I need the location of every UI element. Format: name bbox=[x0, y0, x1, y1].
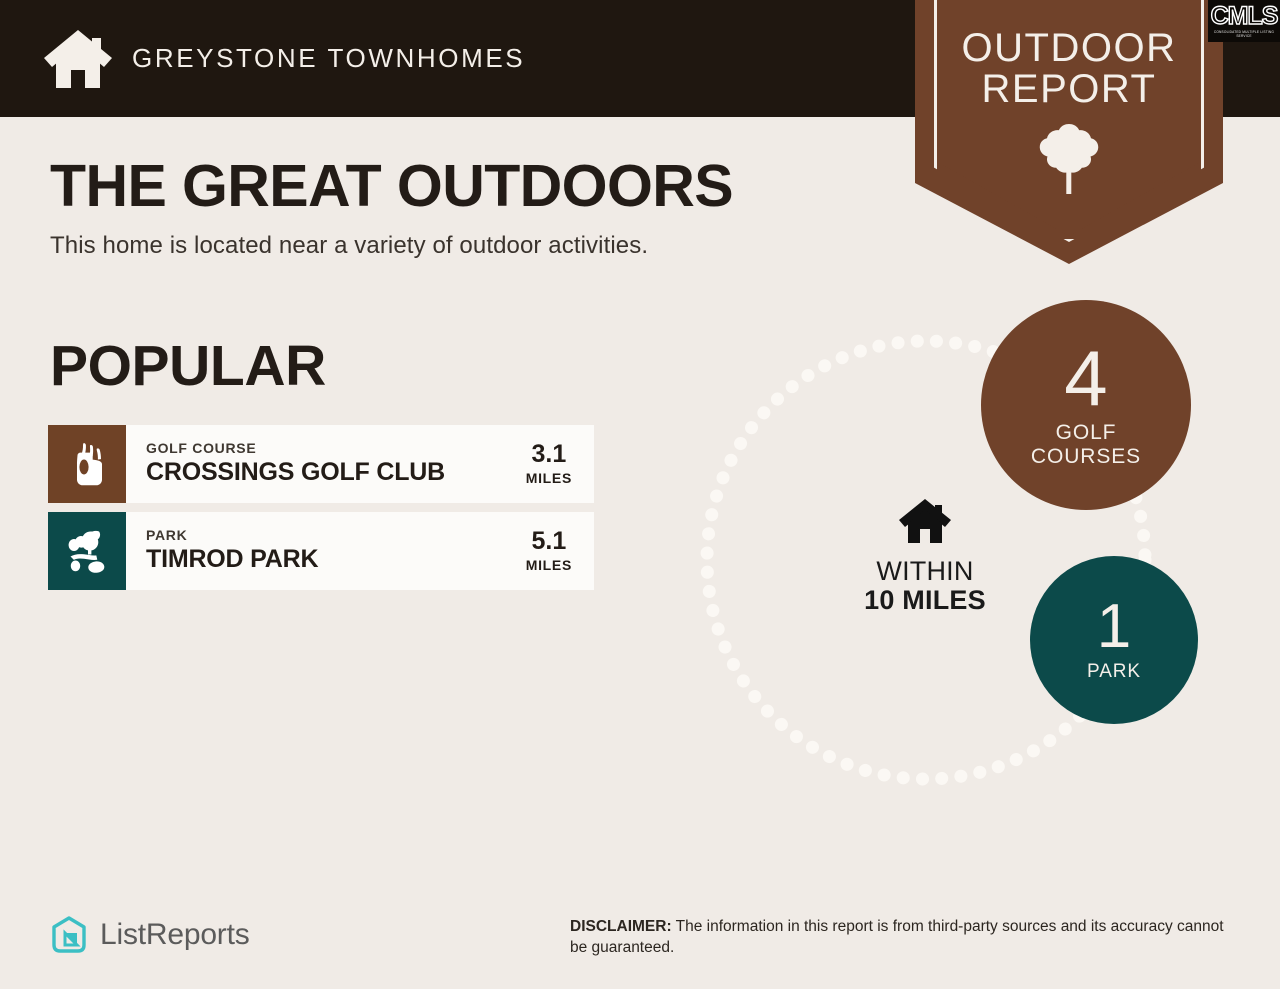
poi-icon-tile bbox=[48, 425, 126, 503]
stat-parks[interactable]: 1 PARK bbox=[1030, 556, 1198, 724]
park-tree-icon bbox=[64, 529, 110, 573]
list-item[interactable]: PARK TIMROD PARK 5.1 MILES bbox=[48, 512, 594, 590]
popular-heading: POPULAR bbox=[50, 338, 326, 395]
poi-distance-unit: MILES bbox=[526, 557, 572, 573]
within-label: WITHIN bbox=[843, 557, 1007, 586]
disclaimer-label: DISCLAIMER: bbox=[570, 918, 672, 935]
cmls-logo: CMLS CONSOLIDATED MULTIPLE LISTING SERVI… bbox=[1208, 0, 1280, 42]
poi-distance: 3.1 MILES bbox=[526, 425, 594, 503]
poi-category: PARK bbox=[146, 528, 526, 543]
poi-category: GOLF COURSE bbox=[146, 441, 526, 456]
poi-distance-unit: MILES bbox=[526, 470, 572, 486]
radius-center: WITHIN 10 MILES bbox=[843, 498, 1007, 615]
stat-count: 4 bbox=[1064, 342, 1107, 415]
golf-bag-icon bbox=[66, 441, 108, 487]
page-title: THE GREAT OUTDOORS bbox=[50, 157, 733, 216]
poi-distance-value: 3.1 bbox=[531, 442, 566, 467]
stat-golf-courses[interactable]: 4 GOLF COURSES bbox=[981, 300, 1191, 510]
stat-label-line1: GOLF bbox=[1031, 421, 1141, 445]
listreports-house-icon bbox=[50, 915, 88, 955]
poi-name: TIMROD PARK bbox=[146, 545, 526, 574]
poi-distance-value: 5.1 bbox=[531, 529, 566, 554]
list-item[interactable]: GOLF COURSE CROSSINGS GOLF CLUB 3.1 MILE… bbox=[48, 425, 594, 503]
listreports-brand-name: ListReports bbox=[100, 918, 250, 952]
disclaimer: DISCLAIMER: The information in this repo… bbox=[570, 917, 1230, 958]
poi-icon-tile bbox=[48, 512, 126, 590]
listreports-logo[interactable]: ListReports bbox=[50, 915, 250, 955]
cmls-logo-text: CMLS bbox=[1211, 4, 1278, 29]
poi-text: PARK TIMROD PARK bbox=[126, 512, 526, 590]
house-icon bbox=[42, 28, 114, 90]
property-name: GREYSTONE TOWNHOMES bbox=[132, 43, 525, 74]
poi-text: GOLF COURSE CROSSINGS GOLF CLUB bbox=[126, 425, 526, 503]
within-distance: 10 MILES bbox=[843, 586, 1007, 615]
popular-list: GOLF COURSE CROSSINGS GOLF CLUB 3.1 MILE… bbox=[48, 425, 594, 599]
stat-label: PARK bbox=[1087, 661, 1141, 682]
house-icon bbox=[898, 498, 952, 544]
page-subtitle: This home is located near a variety of o… bbox=[50, 232, 648, 260]
cmls-logo-subtext: CONSOLIDATED MULTIPLE LISTING SERVICE bbox=[1208, 30, 1280, 38]
stat-label-line1: PARK bbox=[1087, 661, 1141, 682]
poi-name: CROSSINGS GOLF CLUB bbox=[146, 458, 526, 487]
stat-count: 1 bbox=[1097, 598, 1131, 656]
poi-distance: 5.1 MILES bbox=[526, 512, 594, 590]
outdoor-report-badge bbox=[915, 0, 1223, 264]
stat-label: GOLF COURSES bbox=[1031, 421, 1141, 468]
stat-label-line2: COURSES bbox=[1031, 445, 1141, 469]
